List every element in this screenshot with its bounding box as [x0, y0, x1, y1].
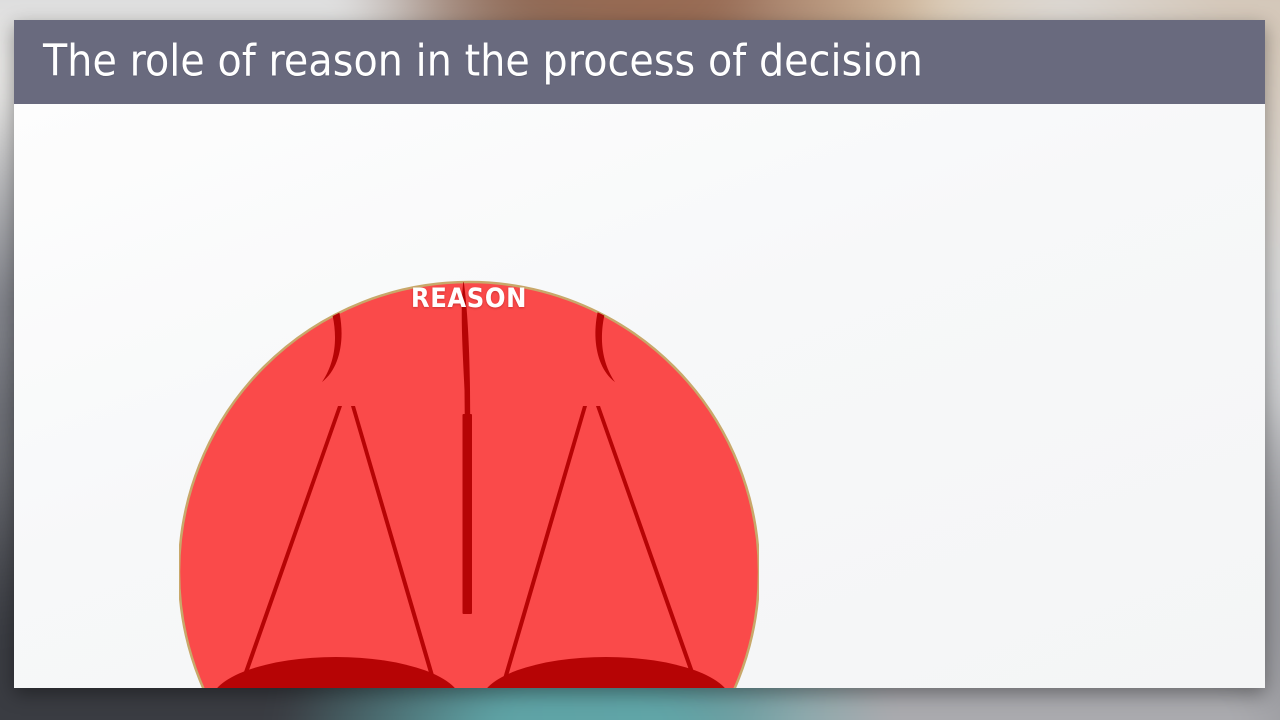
slide-content-area: REASON AM CREATURE — [14, 104, 1265, 688]
scale-pillar-lower — [463, 414, 473, 614]
reason-label: REASON — [179, 283, 759, 314]
scale-beam-right-crescent — [548, 240, 646, 267]
slide-stage: The role of reason in the process of dec… — [0, 0, 1280, 720]
slide-title-bar: The role of reason in the process of dec… — [14, 20, 1265, 104]
scale-beam-center-crescent — [356, 222, 582, 263]
scales-of-justice-graphic: REASON AM CREATURE — [179, 178, 759, 688]
page-title: The role of reason in the process of dec… — [43, 35, 923, 86]
slide-card: The role of reason in the process of dec… — [14, 20, 1265, 688]
scale-beam-left-crescent — [292, 240, 390, 267]
